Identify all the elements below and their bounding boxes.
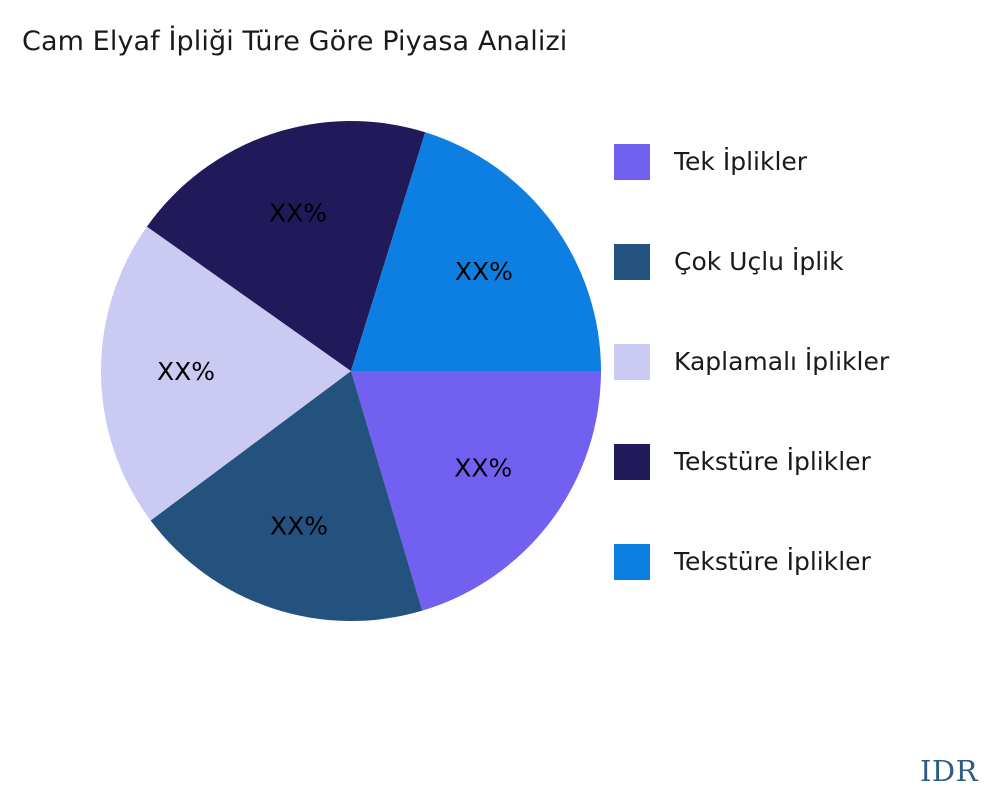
pie-slice-label: XX%: [157, 357, 215, 386]
legend-item-0[interactable]: Tek İplikler: [614, 112, 994, 212]
pie-plot-area: XX%XX%XX%XX%XX%: [0, 0, 620, 760]
pie-slice-label: XX%: [269, 199, 327, 228]
pie-slice-label: XX%: [270, 512, 328, 541]
pie-chart-figure: Cam Elyaf İpliği Türe Göre Piyasa Analiz…: [0, 0, 1000, 800]
legend-swatch-icon-1: [614, 244, 650, 280]
legend-swatch-icon-3: [614, 444, 650, 480]
legend-item-2[interactable]: Kaplamalı İplikler: [614, 312, 994, 412]
legend-label-1: Çok Uçlu İplik: [674, 247, 844, 277]
legend-label-2: Kaplamalı İplikler: [674, 347, 889, 377]
legend-label-4: Tekstüre İplikler: [674, 547, 871, 577]
watermark-idr: IDR: [920, 754, 978, 788]
legend-item-4[interactable]: Tekstüre İplikler: [614, 512, 994, 612]
legend-item-1[interactable]: Çok Uçlu İplik: [614, 212, 994, 312]
pie-svg: XX%XX%XX%XX%XX%: [0, 0, 620, 760]
legend-swatch-icon-4: [614, 544, 650, 580]
legend-label-3: Tekstüre İplikler: [674, 447, 871, 477]
legend-item-3[interactable]: Tekstüre İplikler: [614, 412, 994, 512]
legend-swatch-icon-0: [614, 144, 650, 180]
pie-slice-label: XX%: [455, 257, 513, 286]
pie-slice-label: XX%: [454, 454, 512, 483]
legend: Tek İplikler Çok Uçlu İplik Kaplamalı İp…: [614, 112, 994, 612]
legend-swatch-icon-2: [614, 344, 650, 380]
legend-label-0: Tek İplikler: [674, 147, 807, 177]
